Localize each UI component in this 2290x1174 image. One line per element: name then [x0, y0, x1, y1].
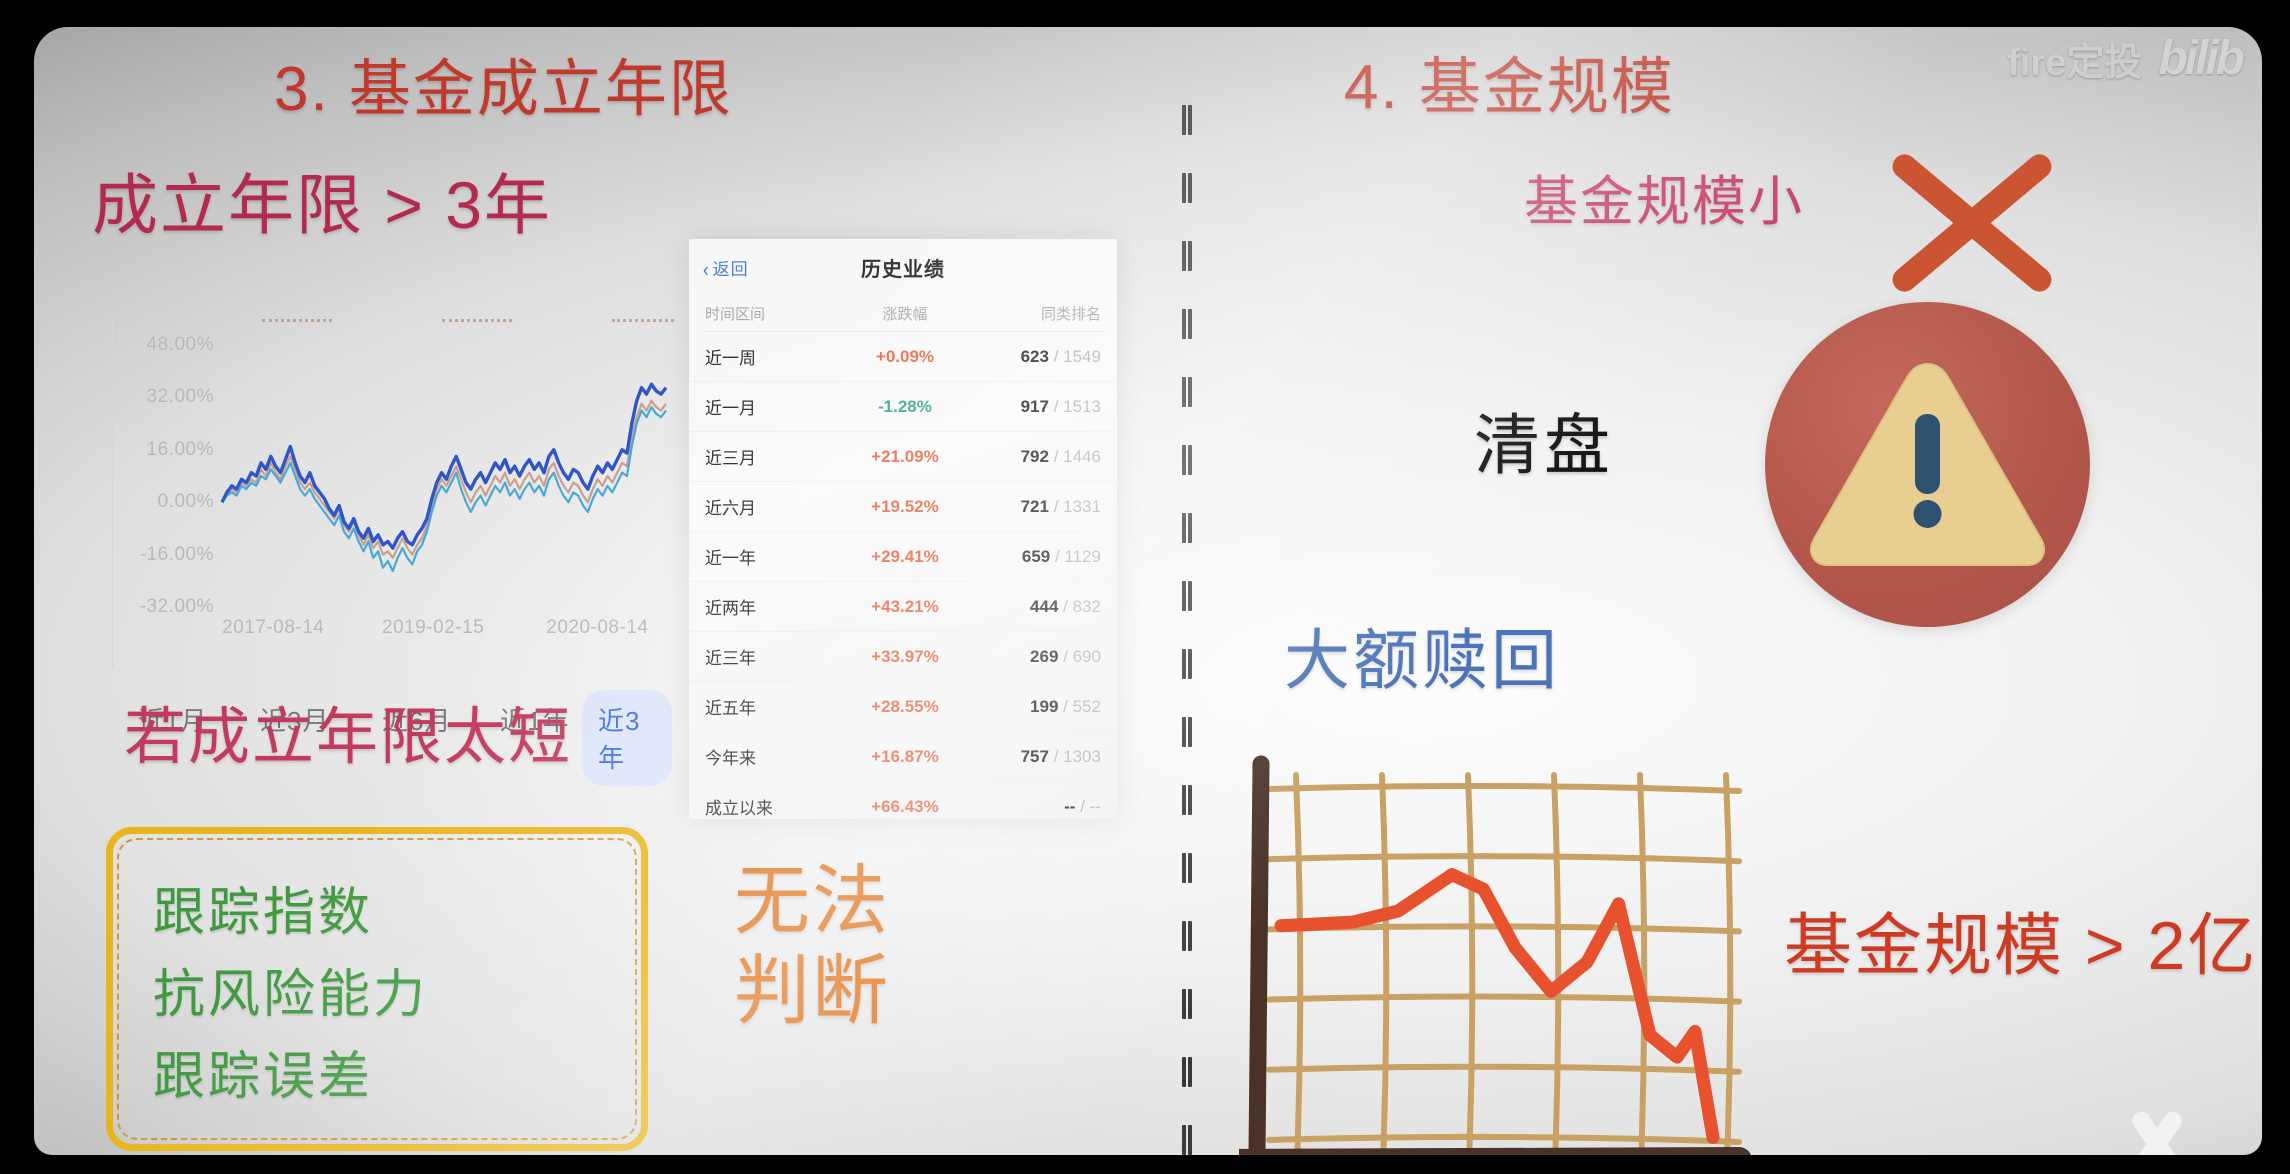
cell-period: 近一月	[705, 394, 840, 419]
grid-line-v	[1640, 775, 1644, 1155]
checklist-item-1: 抗风险能力	[153, 952, 428, 1027]
divider-dash	[1182, 105, 1186, 135]
slide-board: fire定投 bilib 3. 基金成立年限 成立年限 > 3年 4. 基金规模…	[34, 27, 2262, 1155]
table-row[interactable]: 近三月+21.09%792 / 1446	[689, 432, 1117, 482]
liquidation-text: 清盘	[1474, 412, 1614, 478]
cell-change: +16.87%	[840, 747, 971, 767]
divider-dash	[1188, 105, 1192, 135]
divider-dash	[1188, 989, 1192, 1019]
chart-series-line	[222, 407, 666, 571]
divider-dash	[1188, 649, 1192, 679]
corner-check-icon	[2098, 1107, 2218, 1155]
grid-line-v	[1296, 775, 1300, 1155]
divider-dash	[1182, 649, 1186, 679]
section-divider	[1182, 105, 1192, 1155]
divider-dash	[1182, 377, 1186, 407]
divider-dash	[1188, 717, 1192, 747]
chart-x-tick: 2019-02-15	[382, 617, 484, 639]
chart-series-line	[222, 401, 666, 558]
checklist-item-0: 跟踪指数	[153, 870, 373, 945]
chart-x-tick: 2020-08-14	[546, 617, 648, 639]
screenshot-canvas: fire定投 bilib 3. 基金成立年限 成立年限 > 3年 4. 基金规模…	[0, 0, 2290, 1174]
red-x-icon	[1862, 135, 2082, 305]
watermark-text: fire定投	[2007, 31, 2142, 86]
cell-period: 近三年	[705, 644, 840, 669]
chart-y-tick: 32.00%	[147, 386, 214, 408]
chart-y-tick: -32.00%	[140, 596, 214, 618]
divider-dash	[1188, 785, 1192, 815]
divider-dash	[1188, 921, 1192, 951]
small-scale-label: 基金规模小	[1524, 175, 1804, 229]
warning-triangle-svg	[1765, 302, 2090, 627]
grid-line-h	[1269, 1137, 1739, 1142]
fund-performance-screenshot: ‹返回 历史业绩 时间区间 涨跌幅 同类排名 近一周+0.09%623 / 15…	[689, 239, 1117, 819]
cell-rank: 623 / 1549	[970, 347, 1101, 367]
declining-trend-svg	[1239, 732, 1759, 1155]
grid-line-h	[1269, 856, 1739, 861]
cell-period: 近五年	[705, 694, 840, 719]
cell-period: 近两年	[705, 594, 840, 619]
chart-top-dash	[442, 319, 512, 325]
table-row[interactable]: 近一月-1.28%917 / 1513	[689, 382, 1117, 432]
drawing-grid	[1269, 775, 1739, 1155]
table-row[interactable]: 近一周+0.09%623 / 1549	[689, 332, 1117, 382]
cell-rank: 721 / 1331	[970, 497, 1101, 517]
grid-line-h	[1269, 1067, 1739, 1072]
cell-period: 近一周	[705, 344, 840, 369]
divider-dash	[1182, 989, 1186, 1019]
cell-change: +43.21%	[840, 597, 971, 617]
column-header-period: 时间区间	[705, 303, 840, 324]
grid-line-v	[1726, 775, 1730, 1155]
divider-dash	[1188, 309, 1192, 339]
cannot-judge-text: 无法 判断	[734, 857, 890, 1036]
divider-dash	[1188, 377, 1192, 407]
chart-top-dash	[262, 319, 332, 325]
cell-period: 今年来	[705, 744, 840, 769]
checklist-item-2: 跟踪误差	[153, 1034, 373, 1109]
checklist-box: 跟踪指数 抗风险能力 跟踪误差	[106, 827, 648, 1151]
table-row[interactable]: 成立以来+66.43%-- / --	[689, 782, 1117, 832]
grid-line-h	[1269, 997, 1739, 1002]
cell-period: 成立以来	[705, 794, 840, 819]
cell-rank: -- / --	[970, 797, 1101, 817]
cell-rank: 444 / 832	[970, 597, 1101, 617]
warning-triangle-icon	[1765, 302, 2090, 627]
too-short-warning: 若成立年限太短	[124, 707, 572, 769]
divider-dash	[1182, 1125, 1186, 1155]
table-row[interactable]: 近五年+28.55%199 / 552	[689, 682, 1117, 732]
cell-rank: 917 / 1513	[970, 397, 1101, 417]
performance-chart: 48.00%32.00%16.00%0.00%-16.00%-32.00% 20…	[112, 319, 672, 669]
table-row[interactable]: 近两年+43.21%444 / 832	[689, 582, 1117, 632]
cell-period: 近六月	[705, 494, 840, 519]
large-redemption-text: 大额赎回	[1284, 627, 1560, 693]
section-3-heading: 3. 基金成立年限	[274, 59, 733, 121]
cell-change: +66.43%	[840, 797, 971, 817]
chart-y-tick: 16.00%	[147, 439, 214, 461]
chart-x-tick: 2017-08-14	[222, 617, 324, 639]
table-row[interactable]: 近一年+29.41%659 / 1129	[689, 532, 1117, 582]
divider-dash	[1182, 853, 1186, 883]
table-row[interactable]: 今年来+16.87%757 / 1303	[689, 732, 1117, 782]
screenshot-titlebar: ‹返回 历史业绩	[689, 239, 1117, 295]
watermark: fire定投 bilib	[2007, 31, 2242, 86]
chart-y-tick: -16.00%	[140, 544, 214, 566]
table-header-row: 时间区间 涨跌幅 同类排名	[689, 295, 1117, 331]
declining-trend-drawing	[1239, 732, 1759, 1155]
divider-dash	[1182, 445, 1186, 475]
cell-change: +19.52%	[840, 497, 971, 517]
cell-change: +28.55%	[840, 697, 971, 717]
cell-change: -1.28%	[840, 397, 971, 417]
cell-rank: 199 / 552	[970, 697, 1101, 717]
divider-dash	[1188, 241, 1192, 271]
divider-dash	[1182, 1057, 1186, 1087]
chart-y-tick: 0.00%	[158, 491, 214, 513]
declining-line	[1281, 875, 1713, 1138]
drawing-frame-vertical	[1257, 764, 1261, 1152]
divider-dash	[1182, 309, 1186, 339]
cell-rank: 659 / 1129	[970, 547, 1101, 567]
cell-rank: 757 / 1303	[970, 747, 1101, 767]
cell-rank: 792 / 1446	[970, 447, 1101, 467]
performance-table-body: 近一周+0.09%623 / 1549近一月-1.28%917 / 1513近三…	[689, 332, 1117, 832]
chart-top-dash	[612, 319, 674, 325]
range-tab-5[interactable]: 近3年	[582, 690, 672, 786]
cell-change: +33.97%	[840, 647, 971, 667]
establish-years-rule: 成立年限 > 3年	[92, 172, 552, 238]
divider-dash	[1188, 1125, 1192, 1155]
bilibili-logo-icon: bilib	[2158, 31, 2242, 86]
cell-change: +29.41%	[840, 547, 971, 567]
divider-dash	[1188, 445, 1192, 475]
divider-dash	[1182, 241, 1186, 271]
cell-period: 近一年	[705, 544, 840, 569]
table-row[interactable]: 近六月+19.52%721 / 1331	[689, 482, 1117, 532]
section-4-heading: 4. 基金规模	[1344, 57, 1675, 119]
column-header-change: 涨跌幅	[840, 303, 971, 324]
column-header-rank: 同类排名	[970, 303, 1101, 324]
divider-dash	[1182, 921, 1186, 951]
divider-dash	[1182, 717, 1186, 747]
cell-period: 近三月	[705, 444, 840, 469]
chart-y-tick: 48.00%	[147, 334, 214, 356]
grid-line-v	[1554, 775, 1558, 1155]
divider-dash	[1188, 173, 1192, 203]
divider-dash	[1182, 513, 1186, 543]
divider-dash	[1188, 581, 1192, 611]
grid-line-h	[1269, 786, 1739, 791]
divider-dash	[1188, 1057, 1192, 1087]
divider-dash	[1182, 581, 1186, 611]
screenshot-title: 历史业绩	[689, 253, 1117, 282]
grid-line-v	[1382, 775, 1386, 1155]
divider-dash	[1188, 853, 1192, 883]
grid-line-v	[1468, 775, 1472, 1155]
cell-change: +0.09%	[840, 347, 971, 367]
divider-dash	[1182, 785, 1186, 815]
divider-dash	[1182, 173, 1186, 203]
fund-scale-rule: 基金规模 > 2亿	[1784, 912, 2257, 980]
cell-rank: 269 / 690	[970, 647, 1101, 667]
table-row[interactable]: 近三年+33.97%269 / 690	[689, 632, 1117, 682]
divider-dash	[1188, 513, 1192, 543]
cell-change: +21.09%	[840, 447, 971, 467]
